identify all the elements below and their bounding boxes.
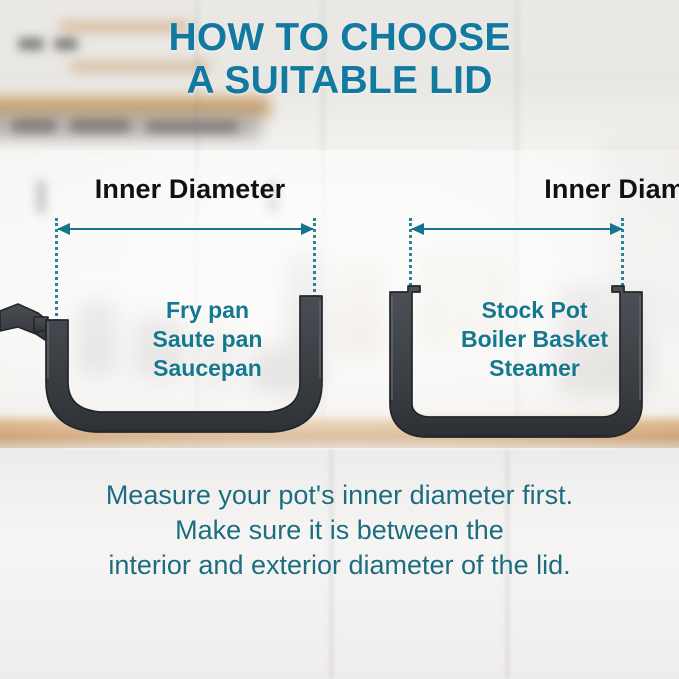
footer-line-2: Make sure it is between the bbox=[0, 513, 679, 548]
right-vessel-type-list: Stock Pot Boiler Basket Steamer bbox=[432, 296, 637, 383]
right-vessel-type-3: Steamer bbox=[432, 354, 637, 383]
footer-line-1: Measure your pot's inner diameter first. bbox=[0, 478, 679, 513]
right-vessel-type-1: Stock Pot bbox=[432, 296, 637, 325]
footer-line-3: interior and exterior diameter of the li… bbox=[0, 548, 679, 583]
left-vessel-type-2: Saute pan bbox=[110, 325, 305, 354]
left-vessel-type-1: Fry pan bbox=[110, 296, 305, 325]
left-vessel-type-list: Fry pan Saute pan Saucepan bbox=[110, 296, 305, 383]
infographic-canvas: HOW TO CHOOSE A SUITABLE LID Inner Diame… bbox=[0, 0, 679, 679]
right-vessel-type-2: Boiler Basket bbox=[432, 325, 637, 354]
left-vessel-type-3: Saucepan bbox=[110, 354, 305, 383]
footer-instructions: Measure your pot's inner diameter first.… bbox=[0, 478, 679, 583]
